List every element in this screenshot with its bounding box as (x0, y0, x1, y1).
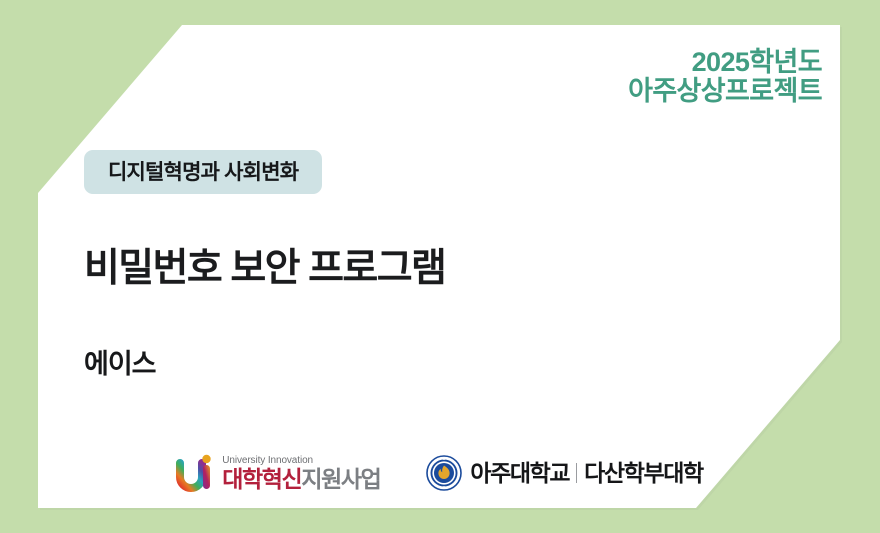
ajou-university-logo: 아주대학교다산학부대학 (426, 455, 702, 491)
university-innovation-logo: University Innovation 대학혁신지원사업 (175, 453, 380, 493)
ui-logo-korean-part2: 지원사업 (301, 466, 380, 492)
footer-logo-bar: University Innovation 대학혁신지원사업 아주 (38, 445, 840, 501)
presentation-slide: 2025학년도 아주상상프로젝트 디지털혁명과 사회변화 비밀번호 보안 프로그… (0, 0, 880, 533)
ajou-logo-divider (576, 463, 577, 483)
ajou-logo-korean-part1: 아주대학교 (470, 462, 569, 485)
ajou-logo-text: 아주대학교다산학부대학 (470, 462, 702, 485)
ui-logo-english: University Innovation (222, 456, 380, 466)
ajou-seal-icon (426, 455, 462, 491)
ui-logo-text: University Innovation 대학혁신지원사업 (222, 456, 380, 491)
course-badge: 디지털혁명과 사회변화 (84, 150, 322, 194)
ui-logo-korean-part1: 대학혁신 (222, 466, 301, 492)
course-badge-label: 디지털혁명과 사회변화 (108, 162, 298, 183)
team-name: 에이스 (84, 350, 156, 380)
ui-logo-korean: 대학혁신지원사업 (222, 468, 380, 491)
project-title: 비밀번호 보안 프로그램 (84, 248, 445, 291)
header-line-2: 아주상상프로젝트 (628, 77, 822, 106)
ui-gradient-mark-icon (175, 453, 215, 493)
header-line-1: 2025학년도 (628, 48, 822, 77)
ajou-logo-korean-part2: 다산학부대학 (584, 462, 703, 485)
slide-header: 2025학년도 아주상상프로젝트 (628, 48, 822, 106)
